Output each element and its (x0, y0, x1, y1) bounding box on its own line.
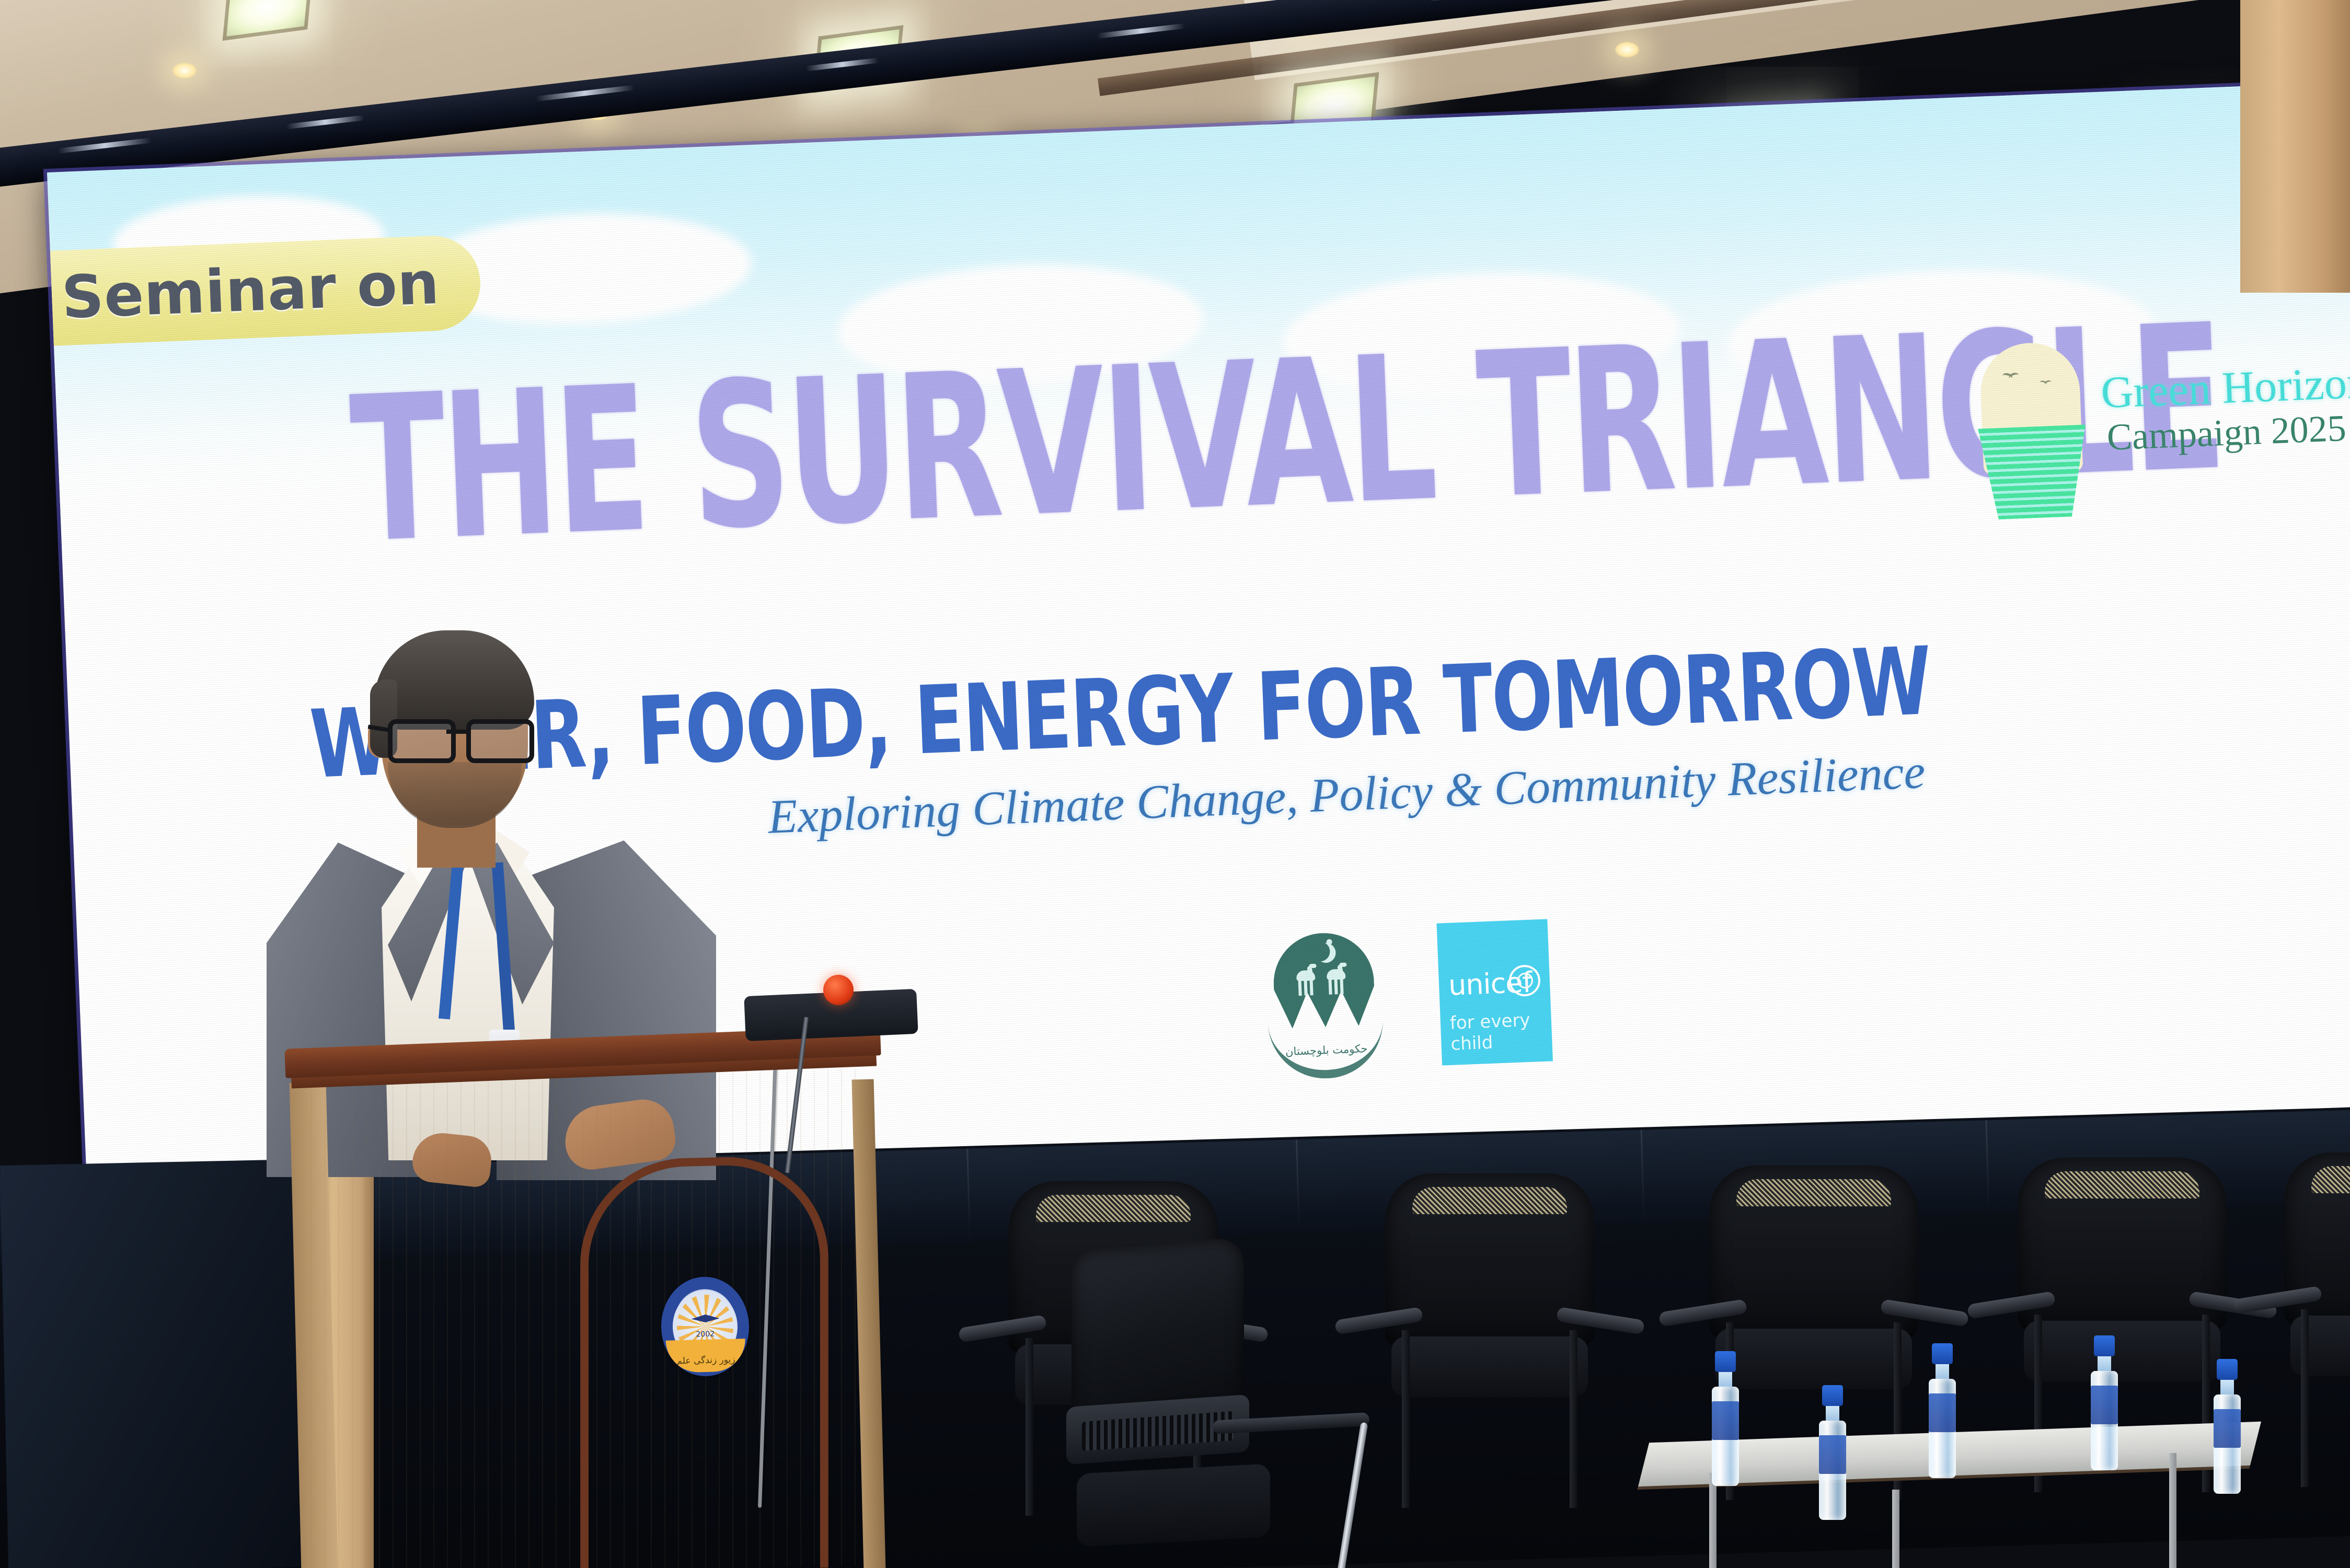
unicef-logo: unicef for every child (1436, 919, 1553, 1065)
ceiling-downlight (1615, 42, 1639, 57)
microphone-icon (823, 975, 854, 1005)
government-crest-logo: حکومت بلوچستان (1264, 926, 1385, 1076)
water-bottle (2214, 1359, 2241, 1494)
water-bottle (1712, 1351, 1739, 1486)
eyeglasses-icon (388, 719, 532, 754)
unicef-tagline: for every child (1449, 1009, 1552, 1055)
beard (388, 762, 522, 828)
wall-wood-column (2240, 0, 2350, 293)
water-bottle (1819, 1385, 1846, 1520)
seminar-on-label: Seminar on (60, 249, 440, 332)
water-bottle (1929, 1343, 1956, 1478)
green-horizon-campaign-year: Campaign 2025 (2106, 407, 2347, 459)
seminar-on-pill: Seminar on (47, 234, 482, 347)
camel-icon (1325, 965, 1347, 998)
water-bottle (2091, 1335, 2118, 1470)
ceiling-downlight (172, 63, 197, 78)
camel-icon (1295, 966, 1317, 999)
crest-year: 2002 (661, 1329, 749, 1340)
hair (374, 630, 534, 730)
partner-logo-row: حکومت بلوچستان unicef for every child (1264, 919, 1553, 1076)
green-horizon-logo: Green Horizon Campaign 2025 (1979, 329, 2350, 502)
office-chair (1056, 1244, 1281, 1568)
bird-icon (2002, 373, 2021, 384)
speaking-podium: 2002 زیور زندگی علم (295, 1037, 870, 1568)
bird-icon (2040, 381, 2053, 388)
stage-left-drape (0, 1159, 343, 1568)
crest-motto: زیور زندگی علم (662, 1354, 750, 1367)
photograph-scene: Seminar on THE SURVIVAL TRIANGLE WATER, … (0, 0, 2350, 1568)
